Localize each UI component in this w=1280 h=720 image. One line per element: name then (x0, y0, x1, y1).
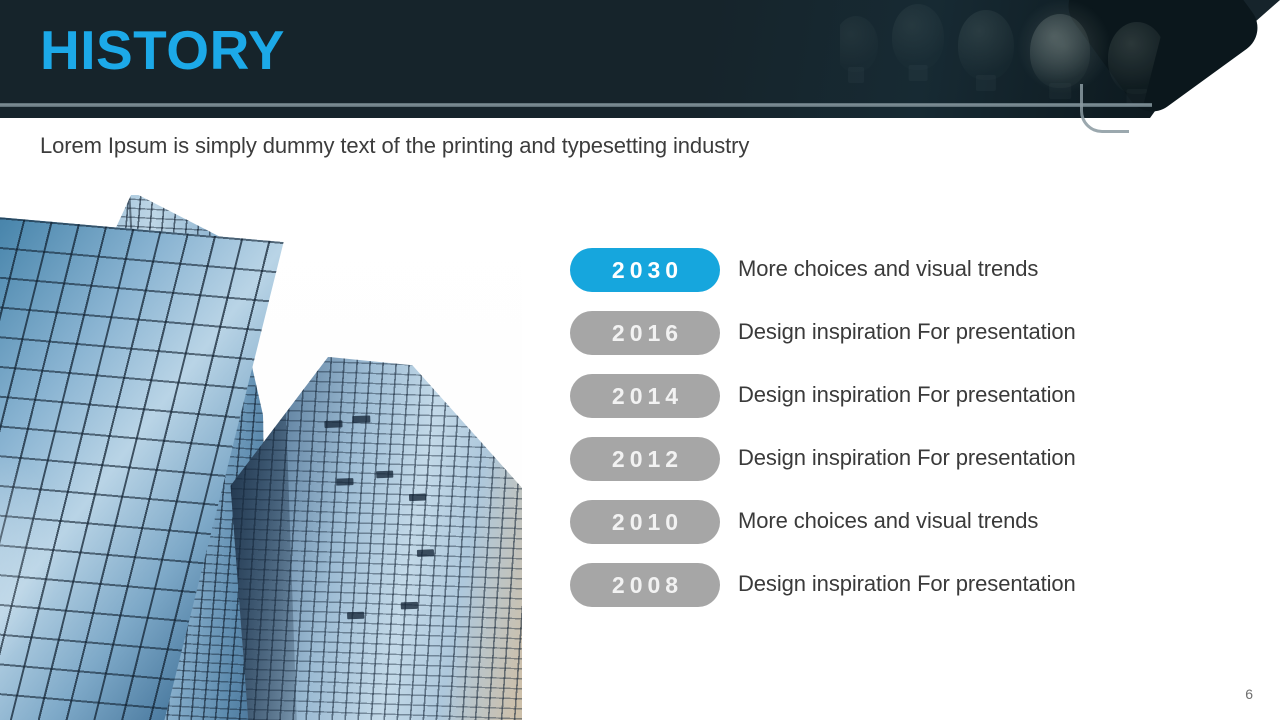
timeline-description: Design inspiration For presentation (738, 319, 1076, 345)
timeline-year-badge[interactable]: 2030 (570, 248, 720, 292)
tower-window (352, 415, 370, 423)
timeline-year-badge[interactable]: 2014 (570, 374, 720, 418)
timeline-year-badge[interactable]: 2008 (570, 563, 720, 607)
timeline-item[interactable]: 2010 More choices and visual trends (570, 500, 1190, 563)
slide: HISTORY Lorem Ipsum is simply dummy text… (0, 0, 1280, 720)
lightbulb-icon (840, 16, 878, 72)
page-title: HISTORY (40, 23, 285, 78)
timeline-item[interactable]: 2014 Design inspiration For presentation (570, 374, 1190, 437)
tower-window (324, 420, 342, 428)
timeline-description: Design inspiration For presentation (738, 571, 1076, 597)
timeline-item[interactable]: 2030 More choices and visual trends (570, 248, 1190, 311)
lightbulb-icon (892, 4, 944, 70)
building-photo (0, 195, 522, 720)
timeline-description: Design inspiration For presentation (738, 445, 1076, 471)
lightbulb-icon (958, 10, 1014, 80)
timeline-year-badge[interactable]: 2010 (570, 500, 720, 544)
tower-window (336, 478, 353, 486)
timeline-year-badge[interactable]: 2012 (570, 437, 720, 481)
tower-window (347, 612, 364, 620)
page-number: 6 (1245, 686, 1253, 702)
tower-window (409, 494, 426, 502)
tower-window (401, 602, 418, 610)
tower-window (376, 471, 393, 479)
lightbulb-icon (1030, 14, 1090, 88)
timeline-item[interactable]: 2008 Design inspiration For presentation (570, 563, 1190, 626)
header-divider-line (0, 103, 1152, 107)
timeline-description: More choices and visual trends (738, 256, 1038, 282)
timeline-item[interactable]: 2012 Design inspiration For presentation (570, 437, 1190, 500)
tower-window (417, 549, 434, 557)
slide-subtitle: Lorem Ipsum is simply dummy text of the … (40, 133, 749, 159)
header-divider-corner (1080, 84, 1129, 133)
timeline-description: Design inspiration For presentation (738, 382, 1076, 408)
timeline-year-badge[interactable]: 2016 (570, 311, 720, 355)
timeline-description: More choices and visual trends (738, 508, 1038, 534)
slide-header: HISTORY (0, 0, 1280, 120)
timeline-item[interactable]: 2016 Design inspiration For presentation (570, 311, 1190, 374)
history-timeline: 2030 More choices and visual trends 2016… (570, 248, 1190, 626)
